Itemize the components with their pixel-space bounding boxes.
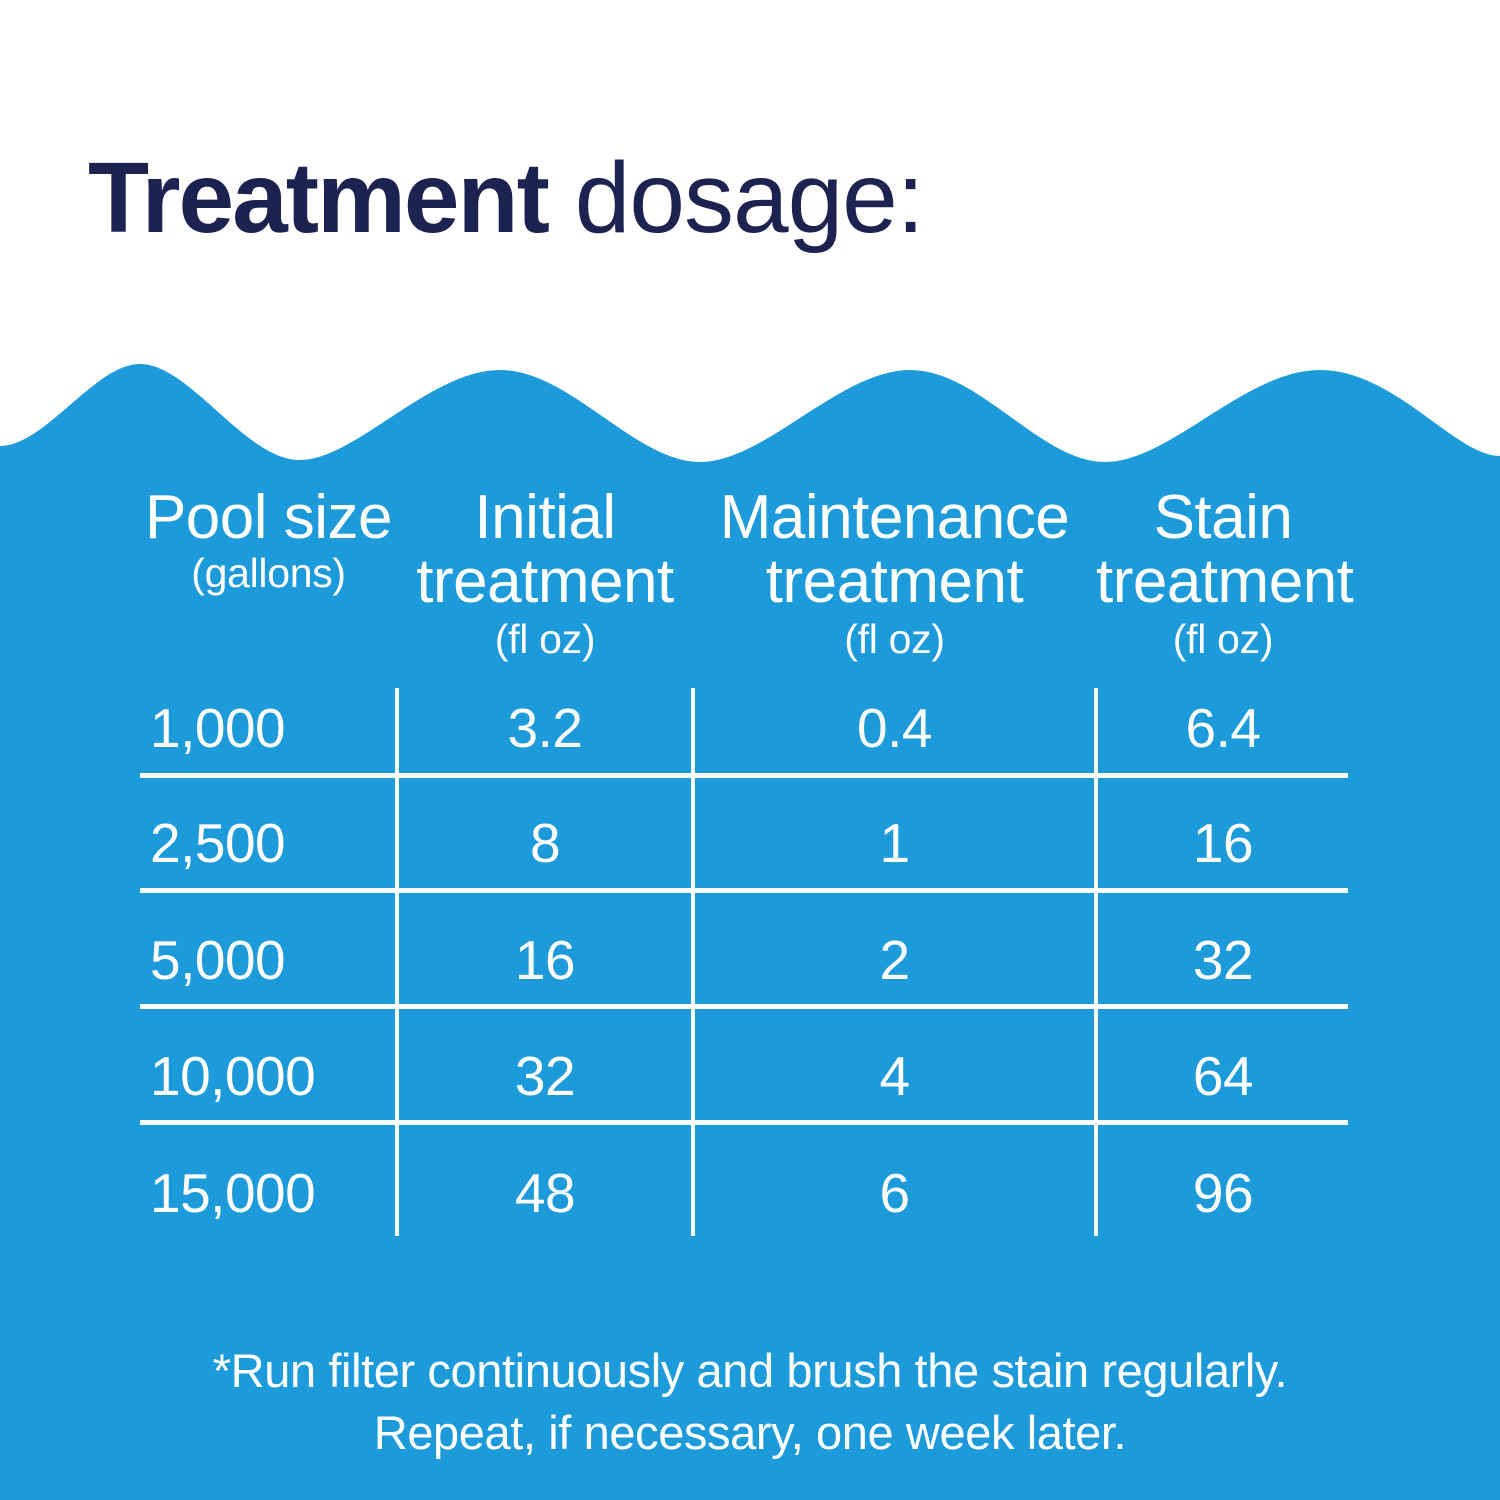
column-header-stain-line2: treatment <box>1096 550 1350 614</box>
column-header-pool-size-unit: (gallons) <box>140 552 397 594</box>
table-row: 5,000 16 2 32 <box>140 915 1350 1005</box>
column-header-maintenance-line2: treatment <box>693 550 1096 614</box>
footnote-line-2: Repeat, if necessary, one week later. <box>150 1402 1350 1464</box>
treatment-dosage-poster: Treatment dosage: Pool size (gallons) In… <box>0 0 1500 1500</box>
column-header-stain-line1: Stain <box>1096 486 1350 550</box>
row-divider-1 <box>140 773 1348 778</box>
footnote: *Run filter continuously and brush the s… <box>150 1340 1350 1464</box>
table-row: 10,000 32 4 64 <box>140 1031 1350 1121</box>
cell-initial: 48 <box>397 1166 693 1221</box>
cell-initial: 16 <box>397 933 693 988</box>
column-header-initial-line2: treatment <box>397 550 693 614</box>
cell-initial: 8 <box>397 816 693 871</box>
column-header-initial-unit: (fl oz) <box>397 618 693 660</box>
column-header-initial-treatment: Initial treatment (fl oz) <box>397 486 693 646</box>
column-header-pool-size: Pool size (gallons) <box>140 486 397 646</box>
cell-initial: 3.2 <box>397 701 693 756</box>
column-header-stain-treatment: Stain treatment (fl oz) <box>1096 486 1350 646</box>
cell-stain: 16 <box>1096 816 1350 871</box>
cell-stain: 96 <box>1096 1166 1350 1221</box>
cell-stain: 32 <box>1096 933 1350 988</box>
dosage-table: Pool size (gallons) Initial treatment (f… <box>0 0 1500 1500</box>
column-header-pool-size-label: Pool size <box>140 486 397 550</box>
table-row: 1,000 3.2 0.4 6.4 <box>140 683 1350 773</box>
cell-pool-size: 10,000 <box>140 1049 397 1104</box>
table-row: 2,500 8 1 16 <box>140 798 1350 888</box>
cell-pool-size: 1,000 <box>140 701 397 756</box>
column-header-stain-unit: (fl oz) <box>1096 618 1350 660</box>
cell-maintenance: 0.4 <box>693 701 1096 756</box>
cell-pool-size: 2,500 <box>140 816 397 871</box>
column-header-maintenance-unit: (fl oz) <box>693 618 1096 660</box>
table-row: 15,000 48 6 96 <box>140 1148 1350 1238</box>
cell-maintenance: 1 <box>693 816 1096 871</box>
column-header-initial-line1: Initial <box>397 486 693 550</box>
cell-stain: 6.4 <box>1096 701 1350 756</box>
cell-initial: 32 <box>397 1049 693 1104</box>
cell-maintenance: 2 <box>693 933 1096 988</box>
column-header-maintenance-treatment: Maintenance treatment (fl oz) <box>693 486 1096 646</box>
row-divider-2 <box>140 888 1348 893</box>
cell-pool-size: 15,000 <box>140 1166 397 1221</box>
column-header-maintenance-line1: Maintenance <box>693 486 1096 550</box>
footnote-line-1: *Run filter continuously and brush the s… <box>150 1340 1350 1402</box>
cell-maintenance: 4 <box>693 1049 1096 1104</box>
cell-maintenance: 6 <box>693 1166 1096 1221</box>
cell-pool-size: 5,000 <box>140 933 397 988</box>
cell-stain: 64 <box>1096 1049 1350 1104</box>
table-header-row: Pool size (gallons) Initial treatment (f… <box>140 486 1350 646</box>
